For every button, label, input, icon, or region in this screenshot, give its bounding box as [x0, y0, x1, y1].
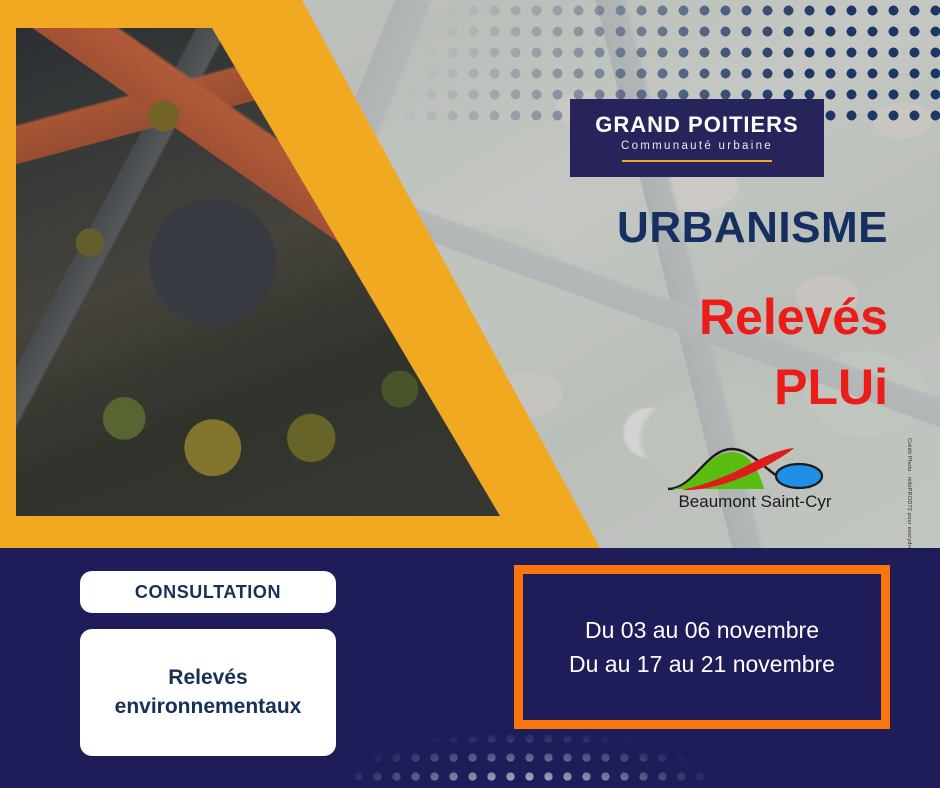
logo-underline-rule [622, 160, 772, 163]
commune-name-label: Beaumont Saint-Cyr [660, 493, 850, 510]
card-releves-line1: Relevés [168, 666, 247, 689]
subtitle-plui: PLUi [368, 362, 888, 412]
card-releves-line2: environnementaux [115, 695, 302, 718]
aerial-photo-header: GRAND POITIERS Communauté urbaine URBANI… [0, 0, 940, 548]
card-consultation-label: CONSULTATION [135, 582, 281, 603]
date-line-2: Du au 17 au 21 novembre [569, 647, 835, 682]
subtitle-releves: Relevés [368, 292, 888, 342]
poster-canvas: GRAND POITIERS Communauté urbaine URBANI… [0, 0, 940, 788]
logo-title: GRAND POITIERS [595, 114, 798, 136]
dates-box: Du 03 au 06 novembre Du au 17 au 21 nove… [514, 565, 890, 729]
beaumont-saint-cyr-logo: Beaumont Saint-Cyr [660, 443, 850, 521]
card-releves-environnementaux: Relevés environnementaux [80, 629, 336, 756]
card-consultation: CONSULTATION [80, 571, 336, 613]
page-title: URBANISME [368, 206, 888, 250]
logo-subtitle: Communauté urbaine [621, 141, 773, 153]
date-line-1: Du 03 au 06 novembre [585, 613, 819, 648]
grand-poitiers-logo: GRAND POITIERS Communauté urbaine [570, 99, 824, 177]
card-releves-text: Relevés environnementaux [115, 664, 302, 721]
photo-credit: Crédit Photo : mikiPROD72 pour everydron… [906, 438, 912, 548]
commune-emblem-icon [660, 443, 850, 495]
